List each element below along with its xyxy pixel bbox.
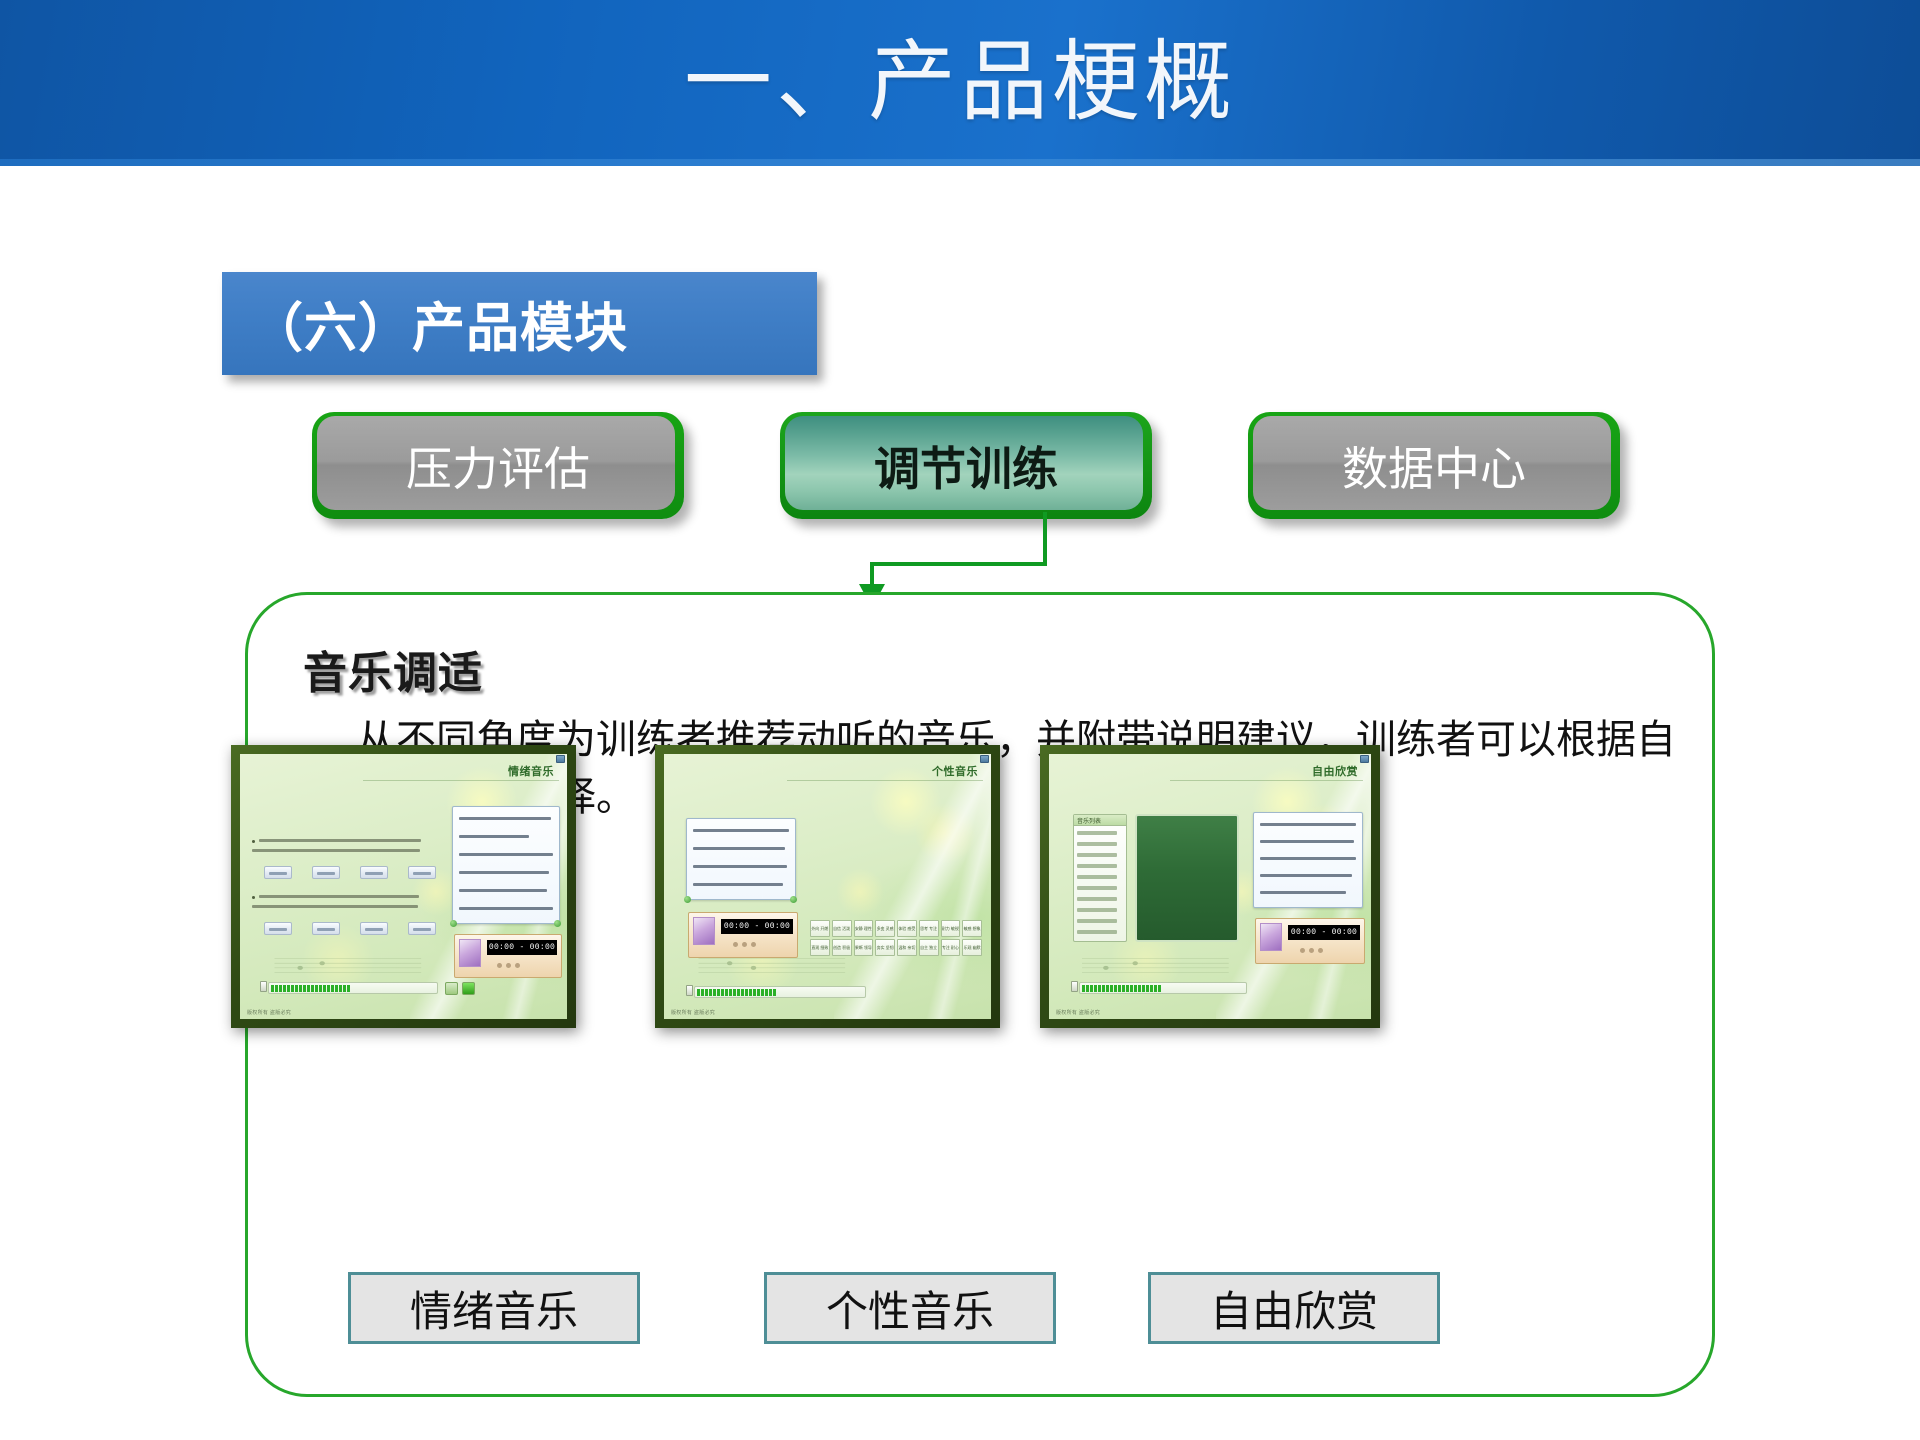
text-line [259, 839, 421, 842]
personality-grid-button[interactable]: 外向 开朗 [810, 920, 830, 937]
playlist-title: 音乐列表 [1074, 815, 1126, 826]
eq-bar [1118, 985, 1121, 992]
eq-bar [725, 989, 728, 996]
advice-line [1260, 857, 1356, 860]
advice-card [686, 818, 796, 900]
track-button-text [365, 928, 383, 931]
playlist-item[interactable] [1077, 875, 1117, 879]
screenshot-thumbnail-row: 情绪音乐 [0, 745, 1920, 1035]
module-button-label: 调节训练 [874, 433, 1058, 499]
personality-grid-button[interactable]: 耐力 敏锐 [941, 920, 961, 937]
equalizer-strip [694, 986, 866, 998]
text-line [252, 849, 420, 852]
eq-bar [295, 985, 298, 992]
caption-box-personality-music[interactable]: 个性音乐 [764, 1272, 1056, 1344]
player-next-icon[interactable] [515, 963, 520, 968]
eq-bar [1114, 985, 1117, 992]
track-button[interactable] [312, 922, 340, 935]
thumbnail-frame: 个性音乐 00:00 - 00:00 [655, 745, 1000, 1028]
playlist-box[interactable]: 音乐列表 [1073, 814, 1127, 942]
advice-line [1260, 840, 1354, 843]
eq-bar [1146, 985, 1149, 992]
resize-handle-right[interactable] [790, 896, 797, 903]
eq-bar [713, 989, 716, 996]
app-footer-text: 版权所有 盗版必究 [247, 1009, 291, 1016]
personality-grid-button[interactable]: 体验 感受 [897, 920, 917, 937]
eq-bar [279, 985, 282, 992]
eq-bar [347, 985, 350, 992]
eq-bar [1110, 985, 1113, 992]
player-prev-icon[interactable] [497, 963, 502, 968]
advice-line [459, 871, 549, 874]
eq-bar [283, 985, 286, 992]
eq-bar [287, 985, 290, 992]
eq-bar [323, 985, 326, 992]
advice-card [452, 806, 560, 924]
title-divider [363, 780, 559, 781]
thumbnail-screen: 自由欣赏 音乐列表 [1049, 754, 1371, 1019]
resize-handle-right[interactable] [554, 920, 561, 927]
album-art [693, 917, 715, 945]
slide-title: 一、产品梗概 [0, 38, 1920, 126]
advice-line [459, 835, 529, 838]
player-time-display: 00:00 - 00:00 [487, 940, 557, 955]
eq-bar [1158, 985, 1161, 992]
track-button[interactable] [264, 866, 292, 879]
section-header-label: （六）产品模块 [222, 286, 628, 362]
eq-bar [331, 985, 334, 992]
caption-box-free-listening[interactable]: 自由欣赏 [1148, 1272, 1440, 1344]
close-icon [980, 755, 989, 763]
track-button-text [317, 872, 335, 875]
advice-line [1260, 823, 1356, 826]
eq-bar [721, 989, 724, 996]
eq-bar [1090, 985, 1093, 992]
advice-line [693, 883, 783, 886]
playlist-item[interactable] [1077, 842, 1117, 846]
playlist-item[interactable] [1077, 930, 1117, 934]
playlist-item[interactable] [1077, 886, 1117, 890]
eq-bar [737, 989, 740, 996]
module-button-pressure-assessment[interactable]: 压力评估 [312, 412, 684, 519]
personality-grid-button[interactable]: 自主 独立 [919, 939, 939, 956]
track-button[interactable] [408, 922, 436, 935]
equalizer-strip [268, 982, 438, 994]
player-next-icon[interactable] [751, 942, 756, 947]
music-staff-decoration [677, 955, 867, 977]
player-controls[interactable] [733, 942, 756, 947]
personality-grid-button[interactable]: 温和 亲切 [897, 939, 917, 956]
eq-bar [311, 985, 314, 992]
eq-bar [303, 985, 306, 992]
advice-line [459, 907, 553, 910]
track-button-text [317, 928, 335, 931]
eq-bar [705, 989, 708, 996]
player-controls[interactable] [497, 963, 520, 968]
eq-bar [701, 989, 704, 996]
eq-bar [1126, 985, 1129, 992]
eq-bar [773, 989, 776, 996]
personality-grid-button[interactable]: 自信 活泼 [832, 920, 852, 937]
eq-bar [315, 985, 318, 992]
eq-bar [1134, 985, 1137, 992]
eq-bar [319, 985, 322, 992]
close-icon [1360, 755, 1369, 763]
thumbnail-frame: 情绪音乐 [231, 745, 576, 1028]
track-button[interactable] [408, 866, 436, 879]
eq-bar [1094, 985, 1097, 992]
visualizer-pane [1135, 814, 1239, 942]
eq-bar [745, 989, 748, 996]
eq-bar [291, 985, 294, 992]
playlist-item[interactable] [1077, 853, 1117, 857]
eq-bar [749, 989, 752, 996]
app-screen-title: 个性音乐 [932, 763, 978, 779]
player-time-display: 00:00 - 00:00 [721, 919, 793, 934]
caption-row: 情绪音乐 个性音乐 自由欣赏 [0, 1272, 1920, 1348]
eq-bar [761, 989, 764, 996]
eq-bar [327, 985, 330, 992]
app-screen-title: 自由欣赏 [1312, 763, 1358, 779]
eq-bar [299, 985, 302, 992]
eq-bar [709, 989, 712, 996]
personality-grid-button[interactable]: 思考 专注 [919, 920, 939, 937]
eq-bar [1102, 985, 1105, 992]
eq-bar [1106, 985, 1109, 992]
eq-bar [769, 989, 772, 996]
eq-bar [1122, 985, 1125, 992]
personality-grid-button[interactable]: 果断 领导 [854, 939, 874, 956]
eq-bar [1138, 985, 1141, 992]
equalizer-knob[interactable] [1071, 981, 1078, 992]
title-divider [1170, 780, 1363, 781]
stop-icon[interactable] [445, 982, 458, 995]
play-icon[interactable] [462, 982, 475, 995]
personality-grid-button[interactable]: 乐观 幽默 [962, 939, 982, 956]
module-button-label: 压力评估 [406, 433, 590, 499]
personality-grid-button[interactable]: 务实 坚韧 [875, 939, 895, 956]
player-controls[interactable] [1300, 948, 1323, 953]
thumbnail-screen: 情绪音乐 [240, 754, 567, 1019]
advice-line [459, 889, 547, 892]
caption-label: 自由欣赏 [1210, 1278, 1378, 1339]
album-art [459, 939, 481, 967]
eq-bar [339, 985, 342, 992]
resize-handle-left[interactable] [684, 896, 691, 903]
music-player: 00:00 - 00:00 [454, 934, 562, 978]
eq-bar [1142, 985, 1145, 992]
player-prev-icon[interactable] [733, 942, 738, 947]
player-play-icon[interactable] [506, 963, 511, 968]
eq-bar [1086, 985, 1089, 992]
caption-label: 情绪音乐 [410, 1278, 578, 1339]
player-play-icon[interactable] [742, 942, 747, 947]
module-button-data-center[interactable]: 数据中心 [1248, 412, 1620, 519]
eq-bar [1130, 985, 1133, 992]
track-button-text [269, 928, 287, 931]
eq-bar [757, 989, 760, 996]
module-button-regulation-training[interactable]: 调节训练 [780, 412, 1152, 519]
thumbnail-screen: 个性音乐 00:00 - 00:00 [664, 754, 991, 1019]
title-divider [787, 780, 983, 781]
album-art [1260, 923, 1282, 951]
eq-bar [741, 989, 744, 996]
advice-line [459, 853, 553, 856]
caption-box-mood-music[interactable]: 情绪音乐 [348, 1272, 640, 1344]
panel-heading: 音乐调适 [303, 637, 483, 701]
screenshot-thumbnail-mood-music[interactable]: 情绪音乐 [231, 745, 576, 1028]
eq-bar [271, 985, 274, 992]
track-button[interactable] [360, 866, 388, 879]
personality-grid-button[interactable]: 敏感 想象 [962, 920, 982, 937]
bullet-icon [252, 896, 255, 899]
track-button-text [413, 928, 431, 931]
eq-bar [765, 989, 768, 996]
personality-grid-button[interactable]: 直观 细致 [810, 939, 830, 956]
advice-line [1260, 874, 1352, 877]
resize-handle-left[interactable] [450, 920, 457, 927]
player-next-icon[interactable] [1318, 948, 1323, 953]
caption-label: 个性音乐 [826, 1278, 994, 1339]
track-button[interactable] [360, 922, 388, 935]
track-button-text [269, 872, 287, 875]
equalizer-strip [1079, 982, 1247, 994]
personality-button-grid[interactable]: 外向 开朗自信 活泼安静 理性多变 灵感体验 感受思考 专注耐力 敏锐敏感 想象… [810, 920, 982, 956]
close-icon [556, 755, 565, 763]
track-button[interactable] [264, 922, 292, 935]
slide-header-banner: 一、产品梗概 [0, 0, 1920, 166]
advice-line [693, 847, 785, 850]
personality-grid-button[interactable]: 安静 理性 [854, 920, 874, 937]
playlist-item[interactable] [1077, 897, 1117, 901]
equalizer-knob[interactable] [260, 981, 267, 992]
bullet-icon [252, 840, 255, 843]
playlist-item[interactable] [1077, 908, 1117, 912]
personality-grid-button[interactable]: 多变 灵感 [875, 920, 895, 937]
advice-line [1260, 891, 1346, 894]
module-button-label: 数据中心 [1342, 433, 1526, 499]
screenshot-thumbnail-free-listening[interactable]: 自由欣赏 音乐列表 [1040, 745, 1380, 1028]
playlist-item[interactable] [1077, 864, 1117, 868]
advice-line [693, 829, 789, 832]
player-play-icon[interactable] [1309, 948, 1314, 953]
personality-grid-button[interactable]: 创造 积极 [832, 939, 852, 956]
screenshot-thumbnail-personality-music[interactable]: 个性音乐 00:00 - 00:00 [655, 745, 1000, 1028]
personality-grid-button[interactable]: 专注 耐心 [941, 939, 961, 956]
eq-bar [343, 985, 346, 992]
eq-bar [1154, 985, 1157, 992]
advice-line [459, 817, 551, 820]
music-staff-decoration [1062, 955, 1249, 977]
eq-bar [1150, 985, 1153, 992]
advice-line [693, 865, 787, 868]
advice-card [1253, 812, 1363, 908]
app-screen-title: 情绪音乐 [508, 763, 554, 779]
track-button[interactable] [312, 866, 340, 879]
music-player: 00:00 - 00:00 [1255, 918, 1365, 964]
module-button-row: 压力评估 调节训练 数据中心 [0, 412, 1920, 522]
eq-bar [729, 989, 732, 996]
equalizer-knob[interactable] [686, 985, 693, 996]
section-header-box: （六）产品模块 [222, 272, 817, 375]
track-button-text [365, 872, 383, 875]
text-line [252, 905, 418, 908]
eq-bar [1082, 985, 1085, 992]
player-prev-icon[interactable] [1300, 948, 1305, 953]
music-player: 00:00 - 00:00 [688, 912, 798, 958]
music-staff-decoration [253, 955, 443, 977]
playlist-item[interactable] [1077, 831, 1117, 835]
app-footer-text: 版权所有 盗版必究 [671, 1009, 715, 1016]
thumbnail-frame: 自由欣赏 音乐列表 [1040, 745, 1380, 1028]
eq-bar [275, 985, 278, 992]
eq-bar [697, 989, 700, 996]
playlist-item[interactable] [1077, 919, 1117, 923]
player-time-display: 00:00 - 00:00 [1288, 925, 1360, 940]
eq-bar [717, 989, 720, 996]
text-line [259, 895, 419, 898]
eq-bar [1098, 985, 1101, 992]
eq-bar [335, 985, 338, 992]
app-footer-text: 版权所有 盗版必究 [1056, 1009, 1100, 1016]
eq-bar [733, 989, 736, 996]
track-button-text [413, 872, 431, 875]
eq-bar [307, 985, 310, 992]
eq-bar [753, 989, 756, 996]
